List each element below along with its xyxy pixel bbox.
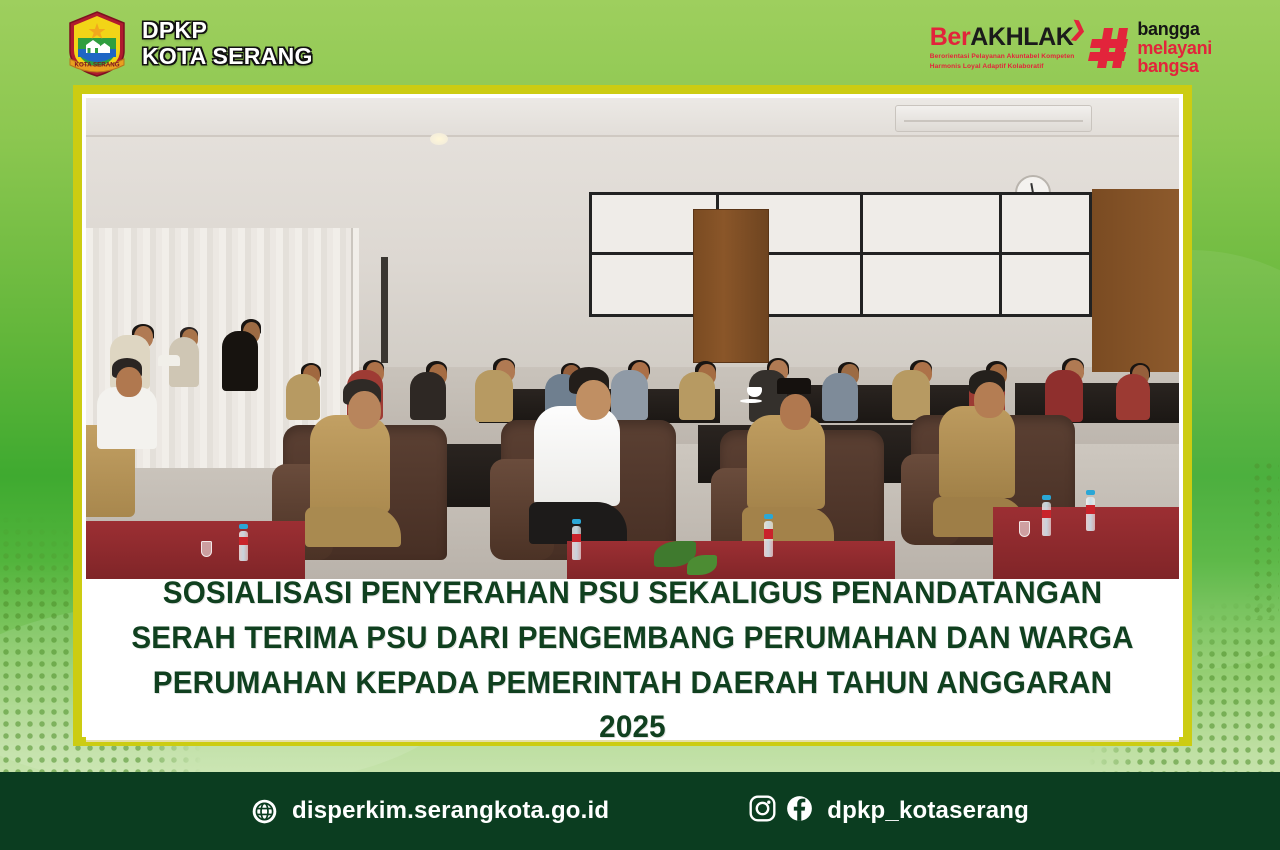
photo-vip-3-head [780, 394, 811, 430]
globe-icon [251, 798, 278, 825]
photo-vip-4-body [939, 406, 1015, 498]
photo-air-conditioner [895, 105, 1092, 131]
photo-vip-1-legs [305, 507, 401, 547]
event-photo [86, 98, 1179, 579]
photo-saucer [740, 399, 762, 403]
poster-card-inner: SOSIALISASI PENYERAHAN PSU SEKALIGUS PEN… [82, 94, 1183, 737]
photo-water-bottle [572, 526, 581, 560]
poster-title: SOSIALISASI PENYERAHAN PSU SEKALIGUS PEN… [119, 570, 1146, 749]
photo-vip-4-head [974, 382, 1005, 418]
photo-vip-3-legs [742, 507, 834, 545]
svg-text:KOTA SERANG: KOTA SERANG [74, 61, 119, 68]
photo-vip-2-body [534, 406, 620, 506]
footer-social[interactable]: dpkp_kotaserang [749, 795, 1029, 827]
photo-water-bottle [1042, 502, 1051, 536]
photo-vip-1-body [310, 415, 390, 513]
photo-front-left-kopiah-icon [158, 355, 180, 366]
berakhlak-subtitle-line-1: Berorientasi Pelayanan Akuntabel Kompete… [930, 52, 1075, 62]
photo-bottle-cap-icon [1086, 490, 1095, 495]
photo-whiteboard-grid [589, 192, 1092, 317]
background-dot-pattern-right-edge [1251, 460, 1279, 620]
footer-website[interactable]: disperkim.serangkota.go.id [251, 797, 609, 825]
instagram-icon[interactable] [749, 795, 776, 827]
berakhlak-prefix: Ber [930, 23, 971, 51]
photo-front-left-head [116, 367, 142, 397]
photo-bottle-cap-icon [572, 519, 581, 524]
brand-title: DPKP KOTA SERANG [142, 18, 313, 70]
photo-vip-2-head [576, 380, 611, 420]
photo-water-bottle [1086, 497, 1095, 531]
bangga-line-1: bangga [1137, 20, 1212, 39]
photo-ceiling-trim [86, 135, 1179, 137]
photo-bottle-cap-icon [1042, 495, 1051, 500]
photo-bottle-cap-icon [764, 514, 773, 519]
berakhlak-logo: BerAKHLAK ❯ Berorientasi Pelayanan Akunt… [930, 25, 1075, 71]
photo-vip-3-peci-icon [777, 378, 811, 394]
hashtag-icon [1088, 25, 1130, 71]
bangga-wordmark: bangga melayani bangsa [1137, 20, 1212, 76]
berakhlak-subtitle: Berorientasi Pelayanan Akuntabel Kompete… [930, 52, 1075, 71]
kota-serang-coat-of-arms-icon: KOTA SERANG [66, 11, 128, 77]
facebook-icon[interactable] [786, 795, 813, 827]
photo-drinking-glass [1019, 521, 1030, 537]
header-bar: KOTA SERANG DPKP KOTA SERANG BerAKHLAK ❯… [0, 0, 1280, 88]
bangga-line-3: bangsa [1137, 57, 1212, 76]
footer-social-icons [749, 795, 813, 827]
photo-drinking-glass [201, 541, 212, 557]
bangga-line-2: melayani [1137, 39, 1212, 58]
photo-vip-1-head [348, 391, 381, 429]
berakhlak-suffix: AKHLAK [970, 23, 1073, 51]
berakhlak-logo-group: BerAKHLAK ❯ Berorientasi Pelayanan Akunt… [930, 20, 1212, 76]
bangga-melayani-bangsa-logo: bangga melayani bangsa [1088, 20, 1212, 76]
poster-title-box: SOSIALISASI PENYERAHAN PSU SEKALIGUS PEN… [86, 579, 1179, 742]
footer-bar: disperkim.serangkota.go.id dpkp_kotasera… [0, 772, 1280, 850]
photo-ceiling-light [430, 133, 448, 145]
footer-website-text: disperkim.serangkota.go.id [292, 797, 609, 825]
brand-block: KOTA SERANG DPKP KOTA SERANG [66, 11, 313, 77]
brand-line-1: DPKP [142, 18, 313, 44]
berakhlak-subtitle-line-2: Harmonis Loyal Adaptif Kolaboratif [930, 62, 1075, 72]
footer-social-handle: dpkp_kotaserang [827, 797, 1029, 825]
photo-water-bottle [239, 531, 248, 561]
berakhlak-wordmark: BerAKHLAK [930, 25, 1075, 50]
photo-vip-3-body [747, 415, 825, 509]
brand-line-2: KOTA SERANG [142, 44, 313, 70]
poster-card: SOSIALISASI PENYERAHAN PSU SEKALIGUS PEN… [73, 85, 1192, 746]
photo-bottle-cap-icon [239, 524, 248, 529]
photo-water-bottle [764, 521, 773, 557]
berakhlak-arrow-icon: ❯ [1068, 16, 1088, 43]
